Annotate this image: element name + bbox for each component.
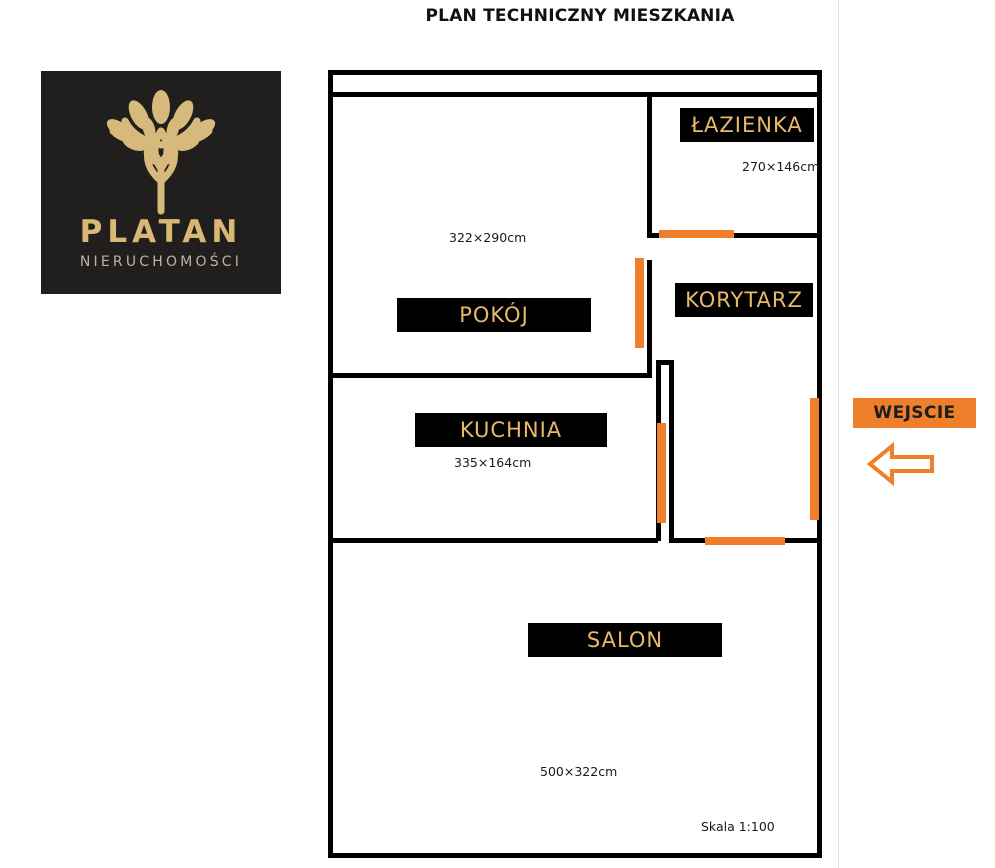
door-lazienka	[659, 230, 734, 238]
wall-pokoj-korytarz	[647, 260, 652, 378]
wall-top-strip	[328, 92, 822, 97]
room-label-kuchnia: KUCHNIA	[415, 413, 607, 447]
page-title: PLAN TECHNICZNY MIESZKANIA	[330, 6, 830, 26]
wall-pokoj-lazienka	[647, 92, 652, 238]
room-dims-pokoj: 322×290cm	[449, 230, 526, 245]
room-label-korytarz: KORYTARZ	[675, 283, 813, 317]
floorplan-page: PLAN TECHNICZNY MIESZKANIA	[0, 0, 995, 868]
logo-brand-name: PLATAN	[41, 214, 281, 250]
floorplan-drawing: POKÓJ 322×290cm ŁAZIENKA 270×146cm KORYT…	[328, 70, 822, 858]
entrance-arrow-icon	[866, 440, 936, 488]
wall-shaft-top	[656, 360, 674, 365]
scale-note: Skala 1:100	[701, 819, 775, 834]
logo-subtitle: NIERUCHOMOŚCI	[41, 254, 281, 270]
wall-outer-bottom	[328, 853, 822, 858]
page-divider	[838, 0, 839, 868]
room-label-salon: SALON	[528, 623, 722, 657]
agency-logo-card: PLATAN NIERUCHOMOŚCI	[41, 71, 281, 294]
room-label-pokoj: POKÓJ	[397, 298, 591, 332]
wall-kuchnia-salon	[328, 538, 658, 543]
wall-shaft-right	[669, 360, 674, 541]
entrance-badge: WEJSCIE	[853, 398, 976, 428]
wall-pokoj-kuchnia	[328, 373, 652, 378]
door-salon	[705, 537, 785, 545]
room-dims-kuchnia: 335×164cm	[454, 455, 531, 470]
room-dims-lazienka: 270×146cm	[742, 159, 819, 174]
room-label-lazienka: ŁAZIENKA	[680, 108, 814, 142]
door-entrance	[810, 398, 819, 520]
wall-outer-top	[328, 70, 822, 75]
door-kuchnia	[657, 423, 666, 523]
wall-outer-left	[328, 70, 333, 858]
door-pokoj	[635, 258, 644, 348]
room-dims-salon: 500×322cm	[540, 764, 617, 779]
tree-icon	[91, 85, 231, 215]
